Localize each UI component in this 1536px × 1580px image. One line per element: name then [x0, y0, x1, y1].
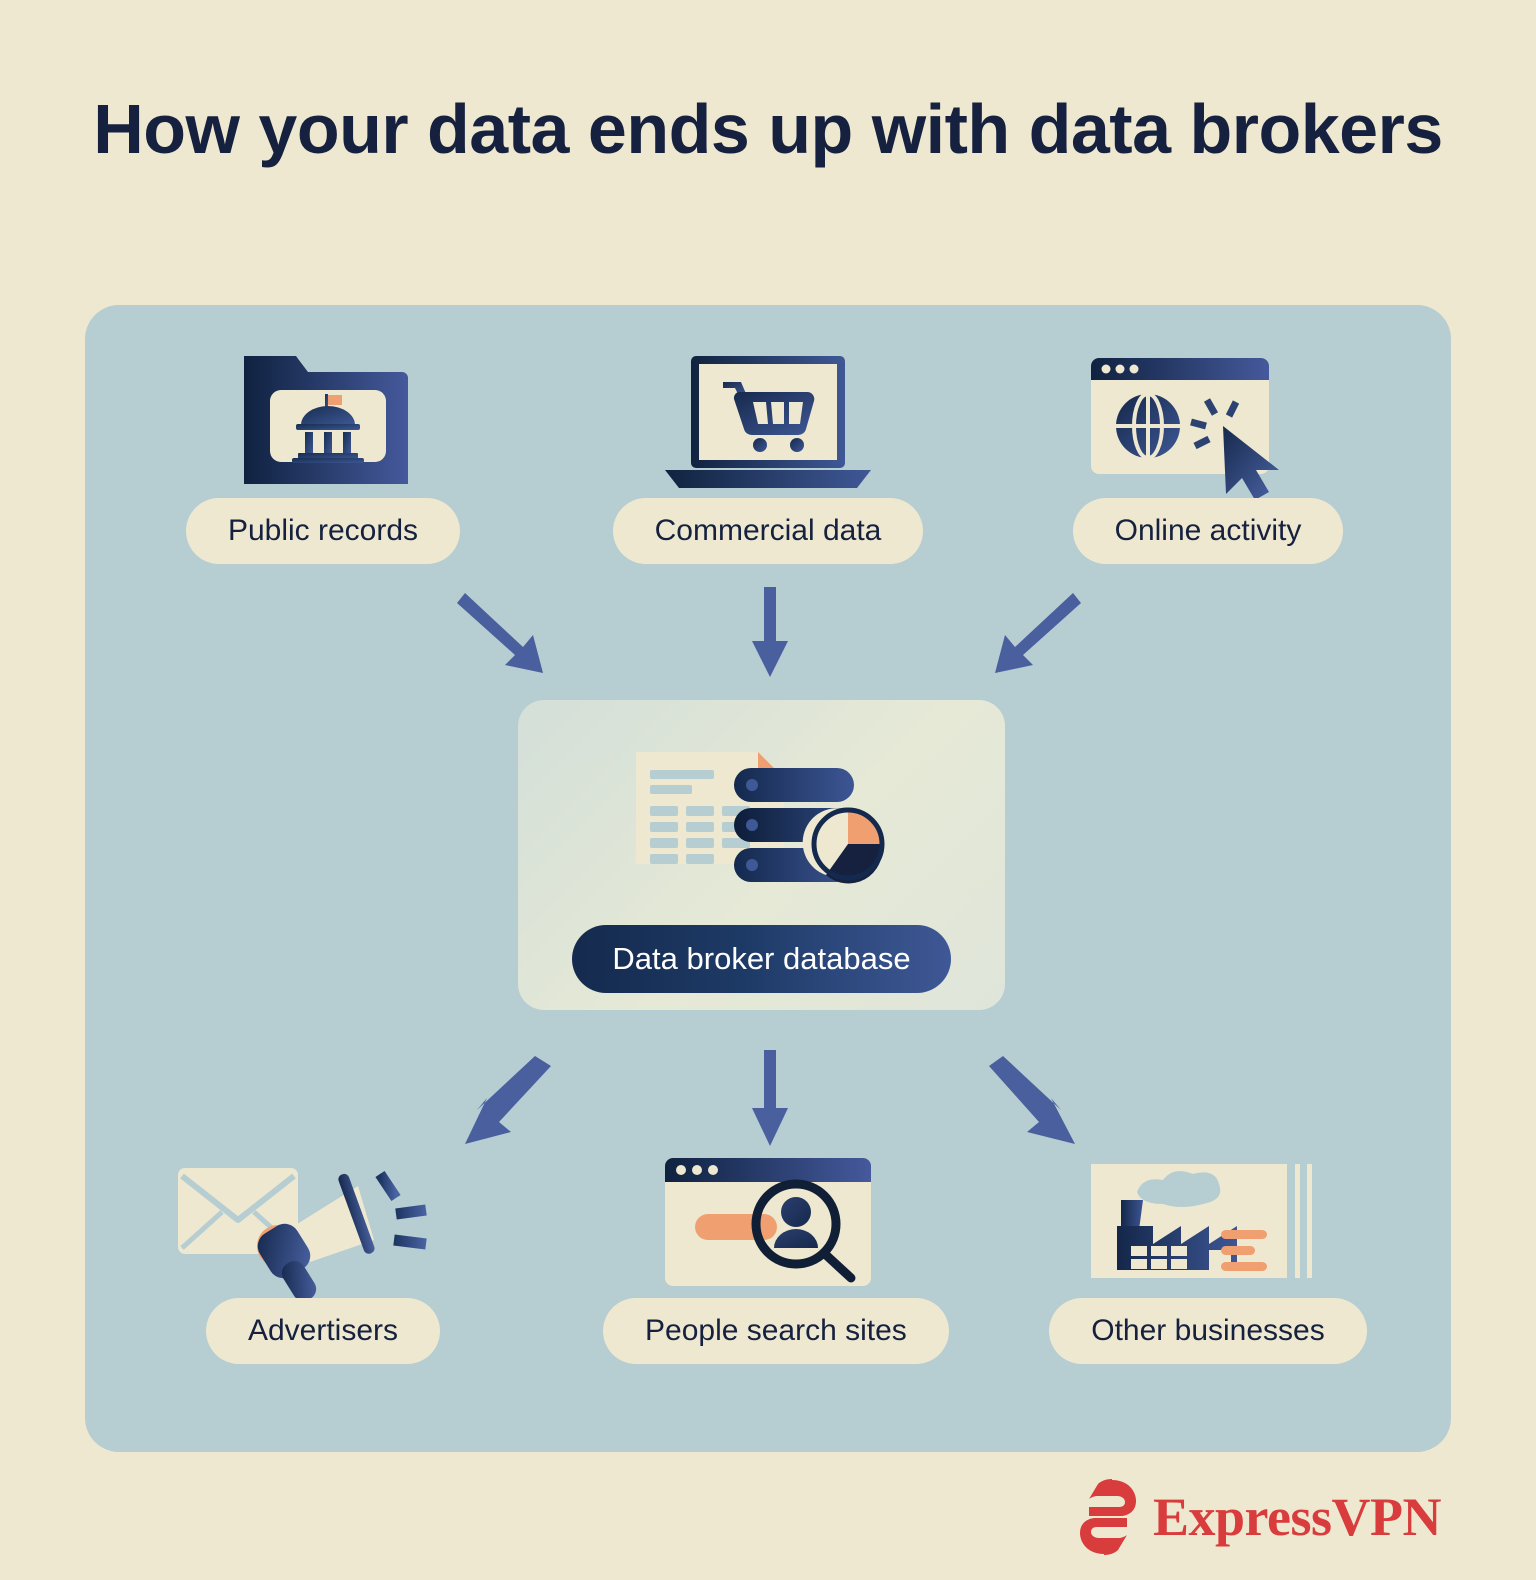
page-title: How your data ends up with data brokers	[0, 88, 1536, 171]
destination-node-other-businesses[interactable]: Other businesses	[1043, 1148, 1373, 1364]
browser-person-search-icon	[603, 1148, 933, 1298]
source-node-public-records[interactable]: Public records	[158, 348, 488, 564]
source-label-public-records: Public records	[186, 498, 460, 564]
destination-node-advertisers[interactable]: Advertisers	[158, 1148, 488, 1364]
hub-label: Data broker database	[572, 925, 950, 993]
source-label-commercial-data: Commercial data	[613, 498, 924, 564]
expressvpn-e-icon	[1077, 1478, 1139, 1556]
arrow-commercial-data-to-hub	[740, 585, 800, 680]
arrow-hub-to-advertisers	[455, 1048, 555, 1153]
destination-label-other-businesses: Other businesses	[1049, 1298, 1366, 1364]
laptop-shopping-cart-icon	[603, 348, 933, 498]
factory-card-icon	[1043, 1148, 1373, 1298]
expressvpn-logo[interactable]: ExpressVPN	[1077, 1478, 1441, 1556]
arrow-online-activity-to-hub	[985, 585, 1085, 680]
arrow-public-records-to-hub	[455, 585, 555, 680]
arrow-hub-to-people-search-sites	[740, 1048, 800, 1153]
database-servers-chart-icon	[518, 728, 1005, 898]
infographic-page: How your data ends up with data brokers	[0, 0, 1536, 1580]
source-label-online-activity: Online activity	[1073, 498, 1344, 564]
browser-globe-cursor-icon	[1043, 348, 1373, 498]
destination-node-people-search-sites[interactable]: People search sites	[603, 1148, 933, 1364]
source-node-online-activity[interactable]: Online activity	[1043, 348, 1373, 564]
envelope-megaphone-icon	[158, 1148, 488, 1298]
destination-label-people-search-sites: People search sites	[603, 1298, 949, 1364]
arrow-hub-to-other-businesses	[985, 1048, 1085, 1153]
folder-government-icon	[158, 348, 488, 498]
hub-card[interactable]: Data broker database	[518, 700, 1005, 1010]
source-node-commercial-data[interactable]: Commercial data	[603, 348, 933, 564]
expressvpn-wordmark: ExpressVPN	[1153, 1486, 1441, 1548]
destination-label-advertisers: Advertisers	[206, 1298, 440, 1364]
